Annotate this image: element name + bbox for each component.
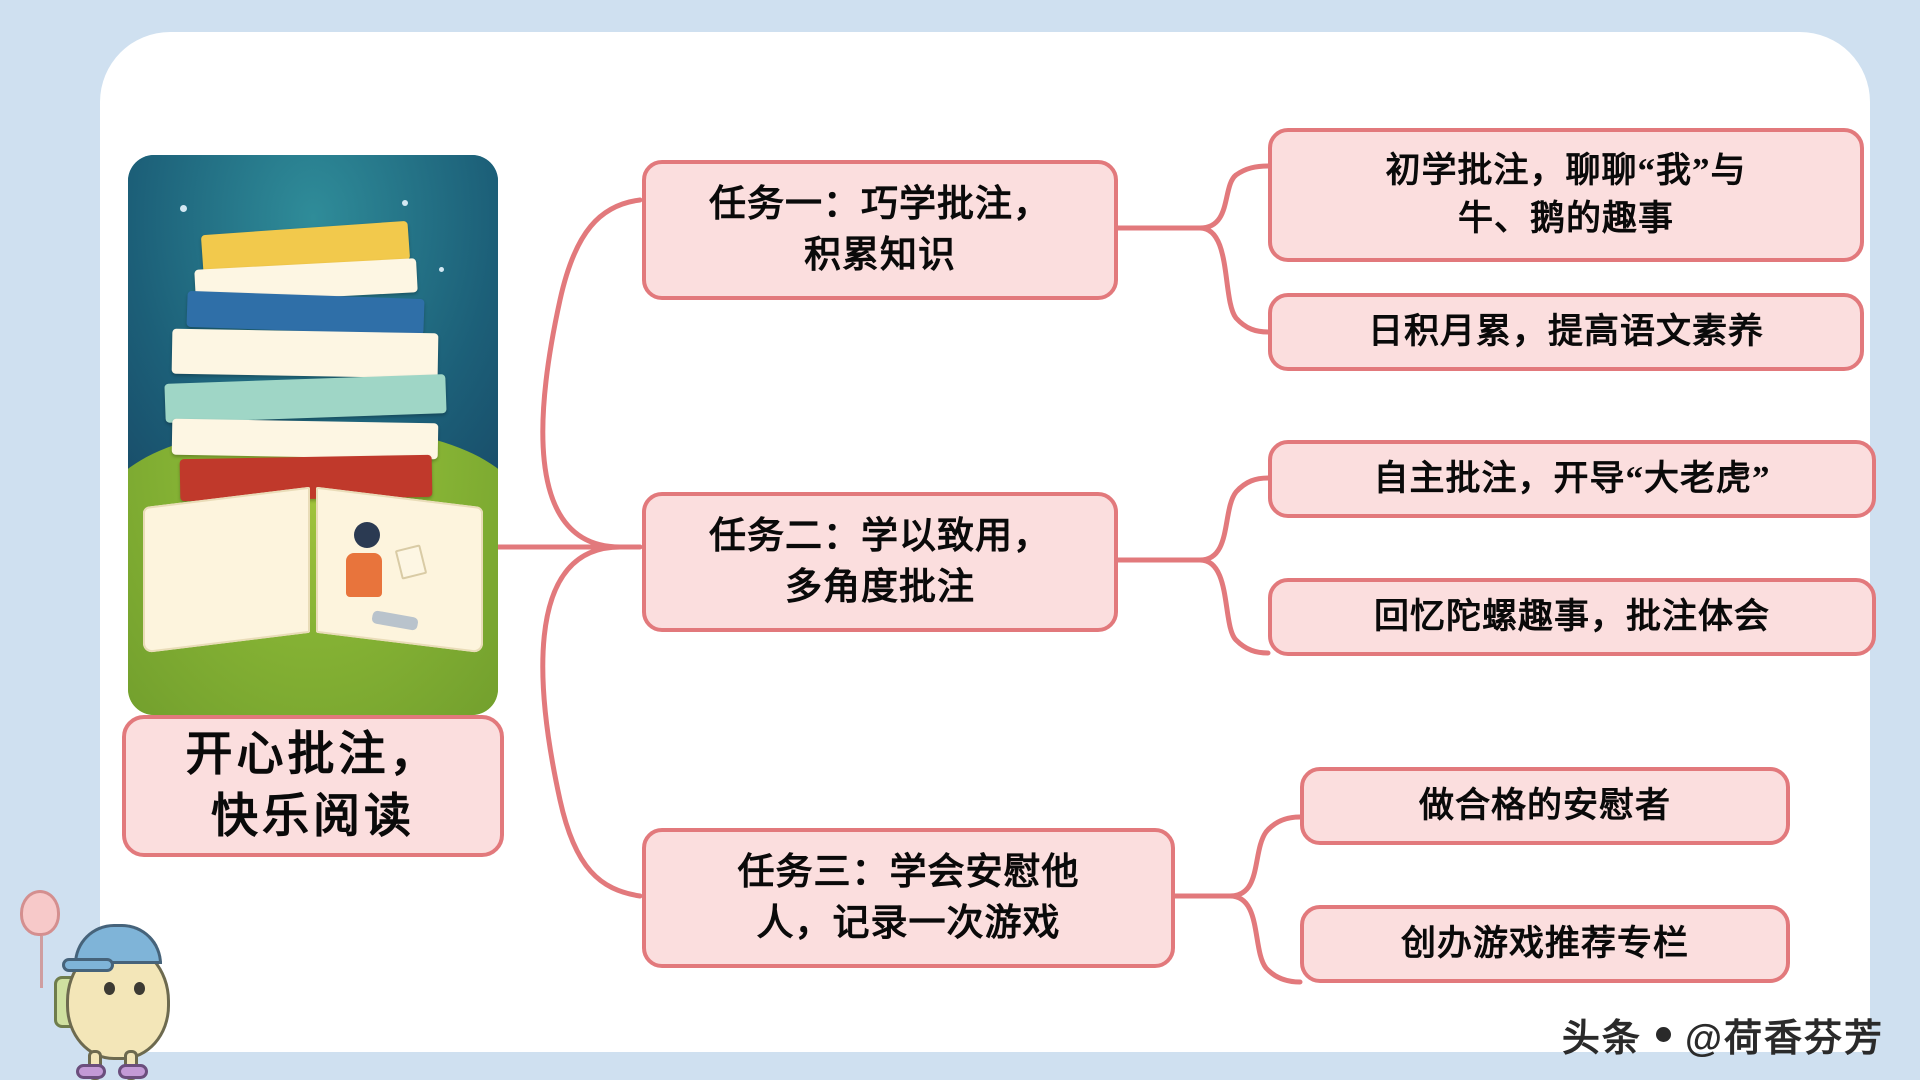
illustration-books-image bbox=[128, 155, 498, 715]
mascot-eye bbox=[104, 982, 115, 995]
leaf-node-1-2[interactable]: 日积月累，提高语文素养 bbox=[1268, 293, 1864, 371]
leaf-node-1-1[interactable]: 初学批注，聊聊“我”与 牛、鹅的趣事 bbox=[1268, 128, 1864, 262]
mascot-eye bbox=[134, 982, 145, 995]
balloon-string bbox=[40, 936, 43, 988]
watermark-separator-dot bbox=[1656, 1027, 1671, 1042]
book-stack-item bbox=[172, 419, 439, 460]
reader-head bbox=[354, 522, 380, 548]
balloon-icon bbox=[20, 890, 60, 936]
mascot-shoe bbox=[76, 1064, 106, 1079]
open-book bbox=[143, 497, 483, 643]
star-icon bbox=[402, 200, 408, 206]
leaf-node-2-1[interactable]: 自主批注，开导“大老虎” bbox=[1268, 440, 1876, 518]
leaf-node-3-2[interactable]: 创办游戏推荐专栏 bbox=[1300, 905, 1790, 983]
task-node-3[interactable]: 任务三：学会安慰他 人，记录一次游戏 bbox=[642, 828, 1175, 968]
task-node-1[interactable]: 任务一：巧学批注， 积累知识 bbox=[642, 160, 1118, 300]
book-stack-item bbox=[172, 329, 439, 378]
screenshot-stage: 开心批注， 快乐阅读 任务一：巧学批注， 积累知识 初学批注，聊聊“我”与 牛、… bbox=[0, 0, 1920, 1080]
mascot-shoe bbox=[118, 1064, 148, 1079]
watermark-account: @荷香芬芳 bbox=[1685, 1007, 1884, 1062]
root-node[interactable]: 开心批注， 快乐阅读 bbox=[122, 715, 504, 857]
watermark-platform: 头条 bbox=[1562, 1007, 1642, 1062]
open-book-left-page bbox=[143, 486, 310, 652]
leaf-node-2-2[interactable]: 回忆陀螺趣事，批注体会 bbox=[1268, 578, 1876, 656]
task-node-2[interactable]: 任务二：学以致用， 多角度批注 bbox=[642, 492, 1118, 632]
mascot-cap-brim bbox=[62, 958, 114, 972]
leaf-node-3-1[interactable]: 做合格的安慰者 bbox=[1300, 767, 1790, 845]
star-icon bbox=[439, 267, 444, 272]
reader-body bbox=[346, 553, 382, 597]
watermark: 头条 @荷香芬芳 bbox=[1562, 1007, 1884, 1062]
mascot-egg-character bbox=[18, 890, 208, 1080]
